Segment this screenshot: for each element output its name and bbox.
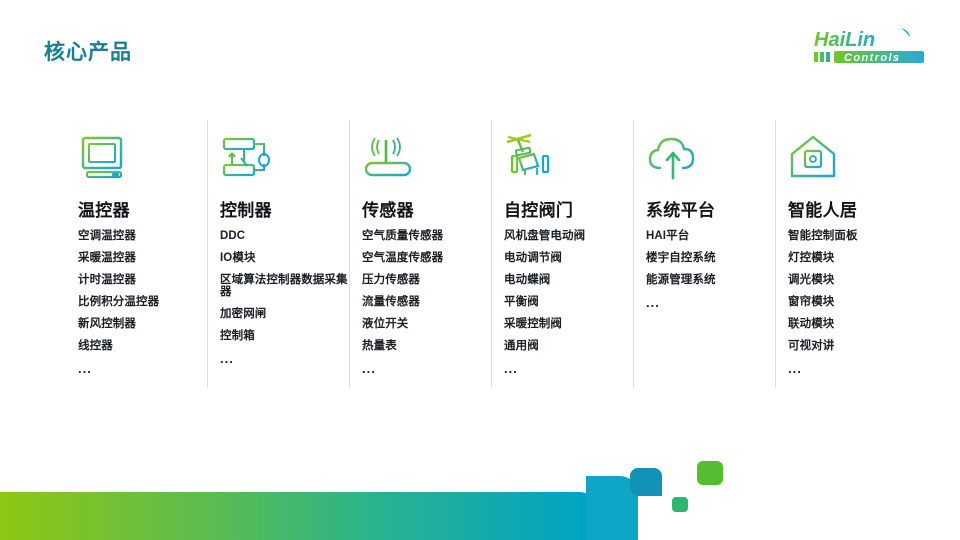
list-item: 空调温控器 (78, 230, 208, 242)
list-item: 可视对讲 (788, 340, 918, 352)
list-item: 比例积分温控器 (78, 296, 208, 308)
list-item: 平衡阀 (504, 296, 634, 308)
list-item: 能源管理系统 (646, 274, 776, 286)
list-item: 电动蝶阀 (504, 274, 634, 286)
list-item: HAI平台 (646, 230, 776, 242)
cloud-upload-icon (646, 126, 776, 182)
product-column-smart-home: 智能人居 智能控制面板 灯控模块 调光模块 窗帘模块 联动模块 可视对讲 ... (788, 126, 930, 394)
product-column-valve: 自控阀门 风机盘管电动阀 电动调节阀 电动蝶阀 平衡阀 采暖控制阀 通用阀 ..… (504, 126, 646, 394)
column-title: 温控器 (78, 196, 208, 221)
column-item-list: 智能控制面板 灯控模块 调光模块 窗帘模块 联动模块 可视对讲 ... (788, 230, 918, 376)
column-title: 系统平台 (646, 196, 776, 221)
list-item: 空气温度传感器 (362, 252, 492, 264)
controller-rack-icon (220, 126, 350, 182)
list-item-more: ... (646, 296, 776, 310)
list-item-more: ... (78, 362, 208, 376)
product-column-platform: 系统平台 HAI平台 楼宇自控系统 能源管理系统 ... (646, 126, 788, 394)
gradient-bottom-bar (0, 492, 594, 540)
list-item: 线控器 (78, 340, 208, 352)
column-title: 智能人居 (788, 196, 918, 221)
list-item: 灯控模块 (788, 252, 918, 264)
column-title: 传感器 (362, 196, 492, 221)
list-item-more: ... (788, 362, 918, 376)
control-valve-icon (504, 126, 634, 182)
column-item-list: DDC IO模块 区域算法控制器数据采集器 加密网闸 控制箱 ... (220, 230, 350, 366)
svg-text:HaiLin: HaiLin (814, 29, 875, 51)
smart-home-chip-icon (788, 126, 918, 182)
list-item: 智能控制面板 (788, 230, 918, 242)
deco-square-green-small (672, 497, 688, 512)
column-item-list: 风机盘管电动阀 电动调节阀 电动蝶阀 平衡阀 采暖控制阀 通用阀 ... (504, 230, 634, 376)
product-column-sensor: 传感器 空气质量传感器 空气温度传感器 压力传感器 流量传感器 液位开关 热量表… (362, 126, 504, 394)
list-item: 流量传感器 (362, 296, 492, 308)
list-item: DDC (220, 230, 350, 242)
list-item: 控制箱 (220, 330, 350, 342)
product-column-thermostat: 温控器 空调温控器 采暖温控器 计时温控器 比例积分温控器 新风控制器 线控器 … (78, 126, 220, 394)
list-item: 压力传感器 (362, 274, 492, 286)
list-item-more: ... (504, 362, 634, 376)
list-item: 新风控制器 (78, 318, 208, 330)
column-item-list: 空调温控器 采暖温控器 计时温控器 比例积分温控器 新风控制器 线控器 ... (78, 230, 208, 376)
column-item-list: 空气质量传感器 空气温度传感器 压力传感器 流量传感器 液位开关 热量表 ... (362, 230, 492, 376)
hailin-controls-logo: HaiLin Controls (800, 26, 932, 70)
list-item-more: ... (220, 352, 350, 366)
list-item-more: ... (362, 362, 492, 376)
list-item: 调光模块 (788, 274, 918, 286)
slide-root: 核心产品 HaiLin Controls (0, 0, 960, 540)
monitor-thermostat-icon (78, 126, 208, 182)
list-item: 热量表 (362, 340, 492, 352)
list-item: 液位开关 (362, 318, 492, 330)
product-columns: 温控器 空调温控器 采暖温控器 计时温控器 比例积分温控器 新风控制器 线控器 … (78, 126, 930, 394)
column-title: 控制器 (220, 196, 350, 221)
list-item: 采暖控制阀 (504, 318, 634, 330)
column-item-list: HAI平台 楼宇自控系统 能源管理系统 ... (646, 230, 776, 310)
list-item: 加密网闸 (220, 308, 350, 320)
list-item: 联动模块 (788, 318, 918, 330)
wireless-sensor-icon (362, 126, 492, 182)
list-item: IO模块 (220, 252, 350, 264)
list-item: 窗帘模块 (788, 296, 918, 308)
list-item: 通用阀 (504, 340, 634, 352)
list-item: 空气质量传感器 (362, 230, 492, 242)
list-item: 风机盘管电动阀 (504, 230, 634, 242)
page-title: 核心产品 (44, 36, 132, 66)
list-item: 电动调节阀 (504, 252, 634, 264)
product-column-controller: 控制器 DDC IO模块 区域算法控制器数据采集器 加密网闸 控制箱 ... (220, 126, 362, 394)
list-item: 楼宇自控系统 (646, 252, 776, 264)
column-title: 自控阀门 (504, 196, 634, 221)
deco-square-green-large (697, 461, 723, 485)
list-item: 计时温控器 (78, 274, 208, 286)
list-item: 区域算法控制器数据采集器 (220, 274, 350, 298)
svg-text:Controls: Controls (844, 52, 900, 64)
list-item: 采暖温控器 (78, 252, 208, 264)
deco-square-blue-small (630, 468, 662, 496)
